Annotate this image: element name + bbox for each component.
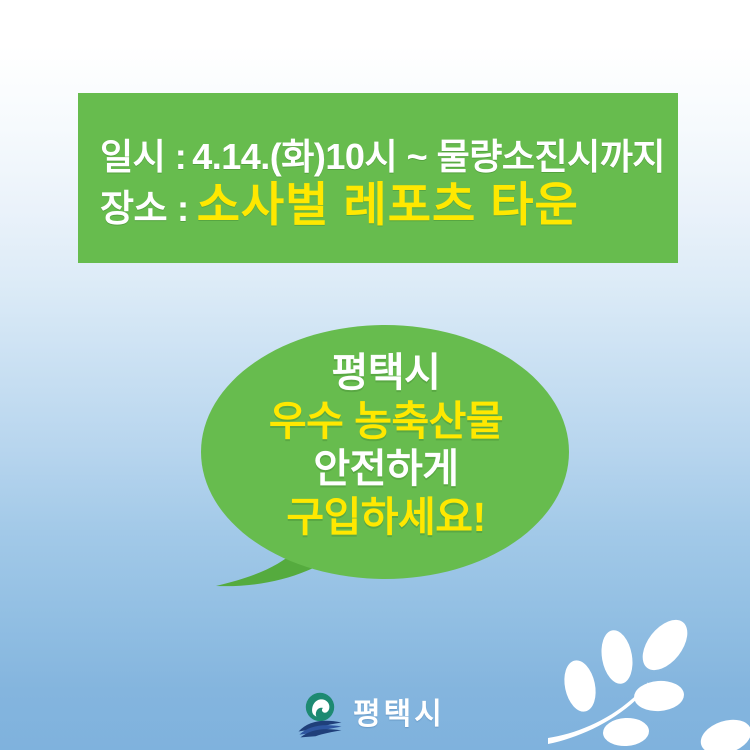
poster-canvas: 일시 : 4.14.(화)10시 ~ 물량소진시까지 장소 : 소사벌 레포츠 …	[0, 0, 750, 750]
city-emblem-icon	[296, 691, 344, 738]
banner-place-label: 장소 :	[100, 190, 189, 227]
bubble-line-3: 안전하게	[198, 446, 574, 493]
info-banner: 일시 : 4.14.(화)10시 ~ 물량소진시까지 장소 : 소사벌 레포츠 …	[78, 93, 678, 263]
speech-bubble-text: 평택시 우수 농축산물 안전하게 구입하세요!	[198, 350, 574, 541]
bubble-line-2: 우수 농축산물	[198, 397, 574, 445]
pyeongtaek-city-logo: 평택시	[296, 691, 445, 738]
banner-row-date: 일시 : 4.14.(화)10시 ~ 물량소진시까지	[78, 139, 665, 175]
banner-date-label: 일시 :	[100, 139, 186, 175]
speech-bubble: 평택시 우수 농축산물 안전하게 구입하세요!	[198, 320, 574, 620]
banner-place-value: 소사벌 레포츠 타운	[197, 181, 579, 228]
bubble-line-1: 평택시	[198, 350, 574, 397]
banner-row-place: 장소 : 소사벌 레포츠 타운	[78, 181, 579, 228]
bubble-line-4: 구입하세요!	[198, 493, 574, 541]
banner-date-value: 4.14.(화)10시 ~ 물량소진시까지	[192, 139, 665, 175]
leaf-branch-ornament	[548, 604, 750, 750]
city-logo-label: 평택시	[353, 700, 445, 730]
